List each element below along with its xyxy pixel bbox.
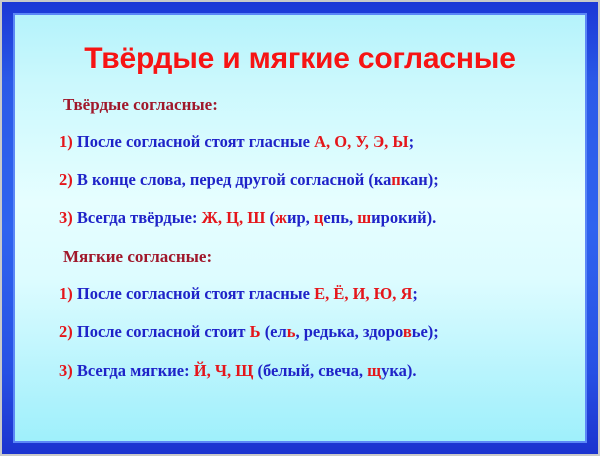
- rule-text: После согласной стоят гласные: [73, 132, 314, 151]
- rule-text-accent: п: [391, 170, 401, 189]
- rule-text-accent: в: [403, 322, 412, 341]
- rule-text: В конце слова, перед другой согласной (к…: [73, 170, 391, 189]
- rule-soft-1: 1) После согласной стоят гласные Е, Ё, И…: [59, 286, 585, 303]
- rule-marker: 1): [59, 132, 73, 151]
- rule-text: (: [265, 208, 275, 227]
- rule-hard-2: 2) В конце слова, перед другой согласной…: [59, 172, 585, 189]
- rule-text: (ел: [261, 322, 287, 341]
- section-heading-hard: Твёрдые согласные:: [63, 96, 585, 113]
- rule-text: епь,: [323, 208, 357, 227]
- rule-text-accent: Ж, Ц, Ш: [202, 208, 266, 227]
- rule-text-accent: Й, Ч, Щ: [194, 361, 254, 380]
- rule-text-accent: ц: [314, 208, 324, 227]
- rule-marker: 2): [59, 322, 73, 341]
- rule-text: , редька, здоро: [296, 322, 403, 341]
- rule-text: ука).: [381, 361, 416, 380]
- rule-hard-3: 3) Всегда твёрдые: Ж, Ц, Ш (жир, цепь, ш…: [59, 210, 585, 227]
- rule-text-accent: А, О, У, Э, Ы: [314, 132, 409, 151]
- rule-text-accent: ш: [357, 208, 371, 227]
- rule-text: ;: [412, 284, 418, 303]
- rule-text: ирокий).: [371, 208, 436, 227]
- rule-text: После согласной стоит: [73, 322, 250, 341]
- rule-text: ;: [409, 132, 415, 151]
- rule-text: кан);: [401, 170, 439, 189]
- rule-hard-1: 1) После согласной стоят гласные А, О, У…: [59, 134, 585, 151]
- rule-text: ье);: [412, 322, 439, 341]
- rule-text-accent: ж: [275, 208, 287, 227]
- rules-body: Твёрдые согласные: 1) После согласной ст…: [15, 96, 585, 379]
- rule-text-accent: Ь: [250, 322, 261, 341]
- rule-soft-3: 3) Всегда мягкие: Й, Ч, Щ (белый, свеча,…: [59, 363, 585, 380]
- slide-frame-inner: Твёрдые и мягкие согласные Твёрдые согла…: [13, 13, 587, 443]
- rule-marker: 3): [59, 208, 73, 227]
- rule-text-accent: щ: [367, 361, 381, 380]
- rule-text-accent: ь: [287, 322, 296, 341]
- rule-marker: 2): [59, 170, 73, 189]
- rule-text: Всегда твёрдые:: [73, 208, 202, 227]
- rule-text: (белый, свеча,: [253, 361, 367, 380]
- page-title: Твёрдые и мягкие согласные: [15, 44, 585, 74]
- section-heading-soft: Мягкие согласные:: [63, 248, 585, 265]
- rule-text: Всегда мягкие:: [73, 361, 194, 380]
- rule-soft-2: 2) После согласной стоит Ь (ель, редька,…: [59, 324, 585, 341]
- rule-marker: 3): [59, 361, 73, 380]
- rule-text-accent: Е, Ё, И, Ю, Я: [314, 284, 412, 303]
- slide-content: Твёрдые и мягкие согласные Твёрдые согла…: [15, 15, 585, 441]
- rule-text: После согласной стоят гласные: [73, 284, 314, 303]
- rule-text: ир,: [287, 208, 314, 227]
- rule-marker: 1): [59, 284, 73, 303]
- slide-frame-border: Твёрдые и мягкие согласные Твёрдые согла…: [2, 2, 598, 454]
- slide-canvas: Твёрдые и мягкие согласные Твёрдые согла…: [0, 0, 600, 456]
